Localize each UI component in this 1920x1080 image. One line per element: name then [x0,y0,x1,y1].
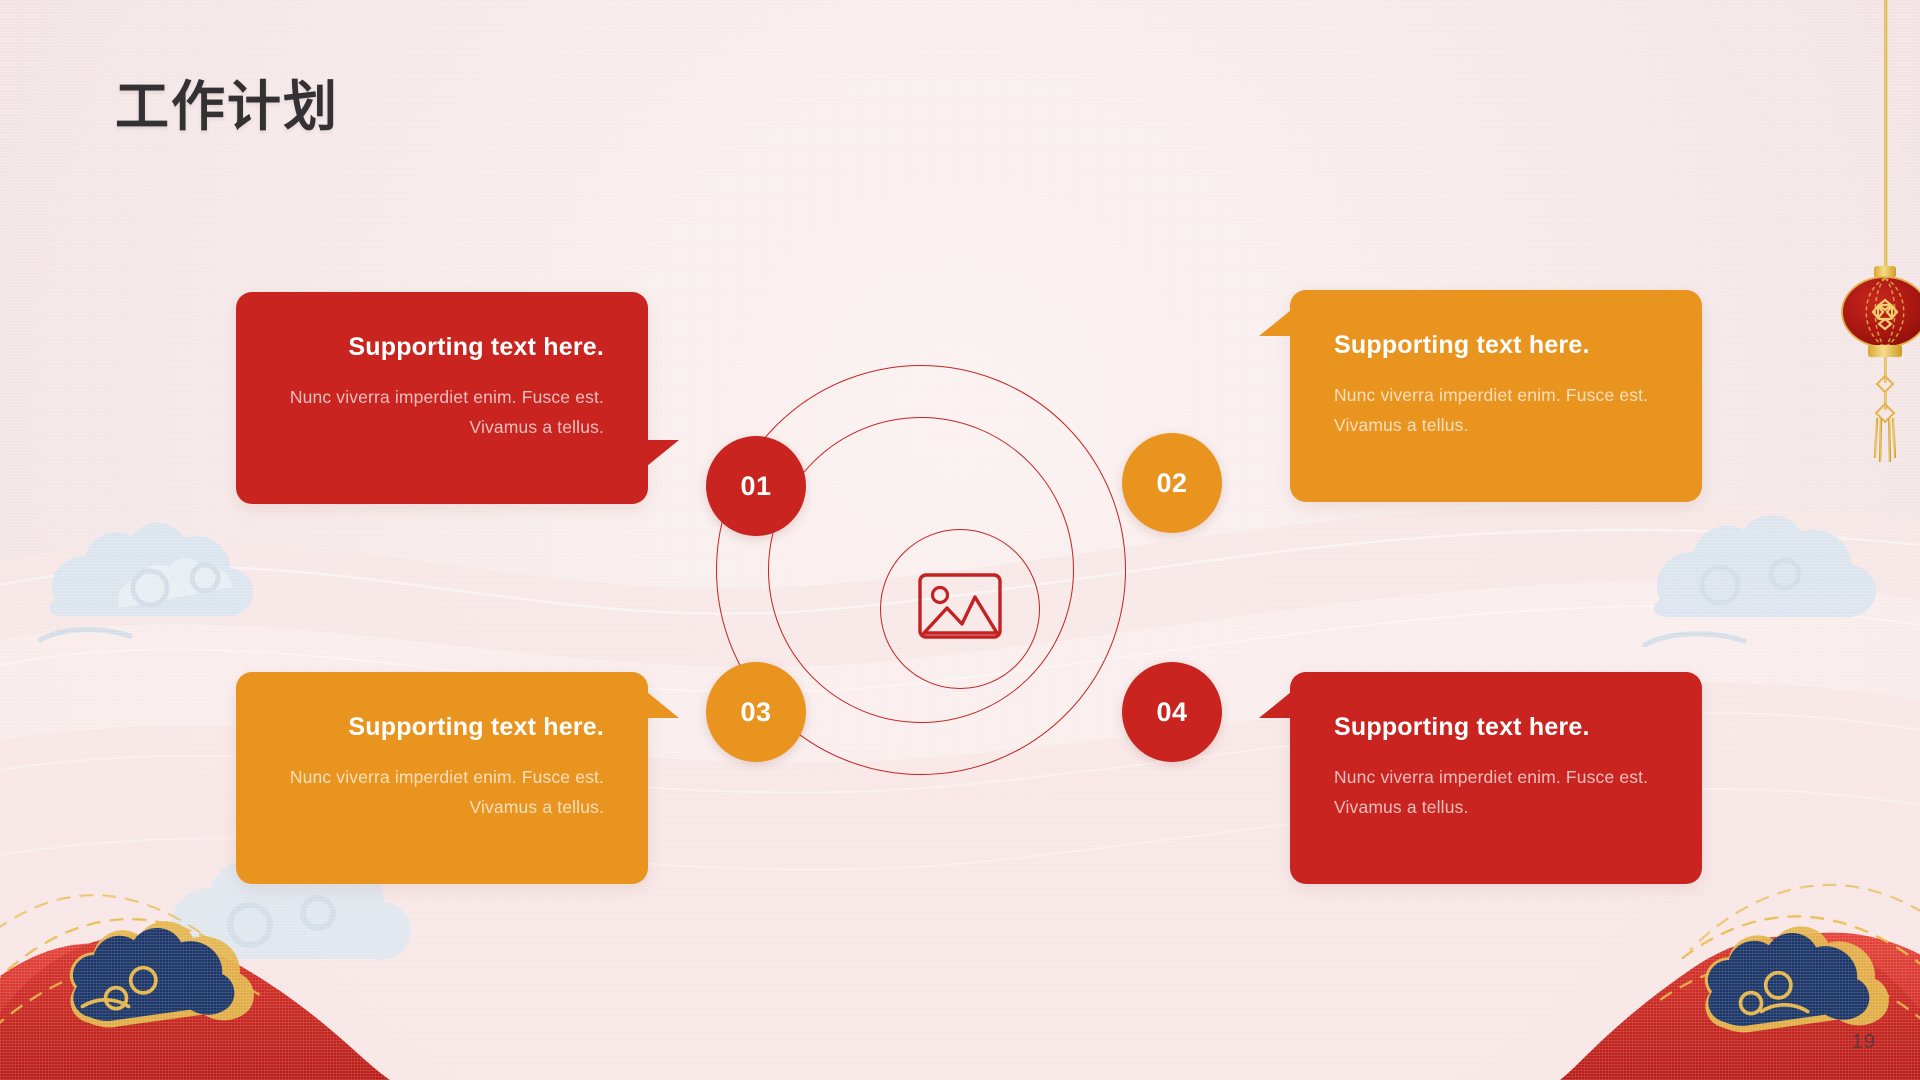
card-04-heading: Supporting text here. [1334,712,1658,743]
slide-canvas: 工作计划 01 02 03 04 Supporting text here. N… [0,0,1920,1080]
cloud-motif-right [1645,515,1876,645]
page-number: 19 [1852,1031,1876,1054]
badge-04[interactable]: 04 [1122,662,1222,762]
card-02[interactable]: Supporting text here. Nunc viverra imper… [1290,290,1702,502]
navy-cloud-left [70,921,254,1027]
badge-02[interactable]: 02 [1122,433,1222,533]
card-04-tail [1259,692,1291,718]
card-03-heading: Supporting text here. [280,712,604,743]
image-placeholder-icon [916,567,1004,651]
hanging-lantern-icon [1840,0,1920,470]
card-03-tail [647,692,679,718]
badge-03[interactable]: 03 [706,662,806,762]
card-02-tail [1259,310,1291,336]
page-title: 工作计划 [115,78,339,137]
card-02-body: Nunc viverra imperdiet enim. Fusce est. … [1334,381,1658,440]
badge-01[interactable]: 01 [706,436,806,536]
navy-cloud-right [1705,926,1889,1032]
card-03[interactable]: Supporting text here. Nunc viverra imper… [236,672,648,884]
red-wave-band-left [0,895,390,1080]
card-01-body: Nunc viverra imperdiet enim. Fusce est. … [280,383,604,442]
cloud-motif-left [40,523,253,640]
card-01-heading: Supporting text here. [280,332,604,363]
card-01-tail [647,440,679,466]
card-03-body: Nunc viverra imperdiet enim. Fusce est. … [280,763,604,822]
card-04[interactable]: Supporting text here. Nunc viverra imper… [1290,672,1702,884]
card-04-body: Nunc viverra imperdiet enim. Fusce est. … [1334,763,1658,822]
card-01[interactable]: Supporting text here. Nunc viverra imper… [236,292,648,504]
card-02-heading: Supporting text here. [1334,330,1658,361]
